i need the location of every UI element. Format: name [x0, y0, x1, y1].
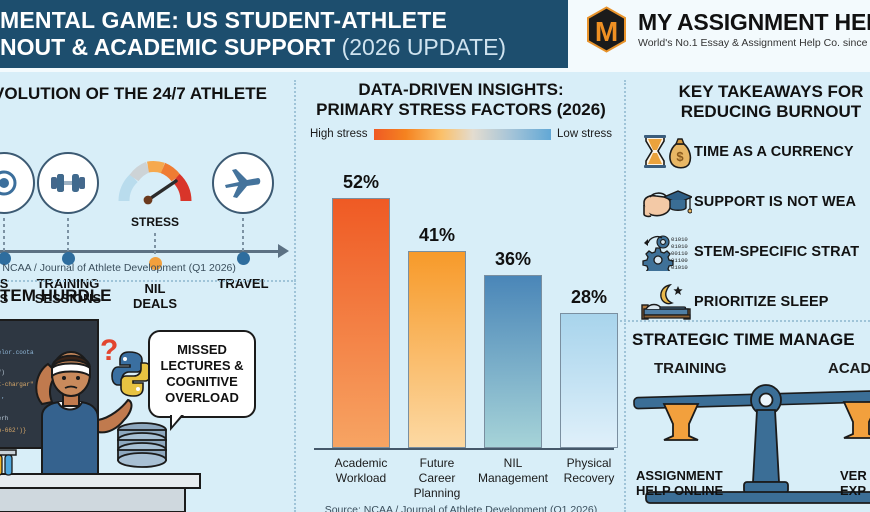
- svg-text:gethpe"): gethpe"): [0, 369, 5, 376]
- bar-value-label: 36%: [484, 249, 542, 270]
- chart-title: DATA-DRIVEN INSIGHTS: PRIMARY STRESS FAC…: [296, 80, 626, 120]
- chart-title-line2: PRIMARY STRESS FACTORS (2026): [296, 100, 626, 120]
- svg-text:01010: 01010: [671, 236, 688, 243]
- question-mark-icon: ?: [100, 334, 118, 367]
- bar-value-label: 52%: [332, 172, 390, 193]
- svg-text:ucfock',: ucfock',: [0, 393, 5, 400]
- logo-tagline: World's No.1 Essay & Assignment Help Co.…: [638, 36, 870, 50]
- chart-plot-area: 52% 41% 36% 28%: [314, 158, 614, 450]
- takeaway-label: TIME AS A CURRENCY: [694, 144, 854, 160]
- bar[interactable]: [560, 313, 618, 448]
- chart-legend: High stress Low stress: [310, 128, 612, 140]
- timeline-stem: [154, 233, 156, 257]
- takeaway-label: STEM-SPECIFIC STRAT: [694, 244, 859, 260]
- timeline-stem: [242, 218, 244, 252]
- timeline: S S: [0, 112, 296, 262]
- header: MENTAL GAME: US STUDENT-ATHLETE NOUT & A…: [0, 0, 870, 72]
- divider-takeaways-strategic: [620, 320, 870, 322]
- bar-column[interactable]: 52%: [332, 198, 390, 448]
- svg-text:= 'toserh: = 'toserh: [0, 415, 9, 422]
- takeaway-item-support[interactable]: SUPPORT IS NOT WEA: [638, 180, 870, 224]
- strategic-title: STRATEGIC TIME MANAGE: [616, 330, 870, 350]
- legend-gradient-bar: [374, 129, 552, 140]
- header-title-main: NOUT & ACADEMIC SUPPORT: [0, 34, 342, 60]
- hexagon-m-icon: M: [583, 6, 630, 53]
- bar[interactable]: [408, 251, 466, 448]
- svg-text:"fatant-chargar": "fatant-chargar": [0, 381, 34, 388]
- svg-text:$: $: [676, 149, 684, 164]
- bar-column[interactable]: 41%: [408, 251, 466, 448]
- scale-left-side-label: TRAINING: [654, 360, 727, 377]
- bar-column[interactable]: 36%: [484, 275, 542, 448]
- svg-text:01100: 01100: [671, 257, 688, 264]
- timeline-dot: [237, 252, 250, 265]
- hourglass-money-icon: $: [638, 132, 694, 172]
- header-title-band: MENTAL GAME: US STUDENT-ATHLETE NOUT & A…: [0, 0, 568, 68]
- legend-high-label: High stress: [310, 128, 368, 140]
- stem-title: TEM HURDLE: [0, 286, 254, 306]
- svg-text:01010: 01010: [671, 264, 688, 271]
- balance-scale-diagram: TRAINING ACAD ASSIGNMENT HELP: [626, 360, 870, 510]
- takeaway-item-stem[interactable]: 01010 01010 00110 01100 01010 STEM-SPECI…: [638, 230, 870, 274]
- svg-text:00110: 00110: [671, 250, 688, 257]
- bar-value-label: 41%: [408, 225, 466, 246]
- takeaway-label: PRIORITIZE SLEEP: [694, 294, 829, 310]
- takeaway-label: SUPPORT IS NOT WEA: [694, 194, 856, 210]
- panel-evolution: VOLUTION OF THE 24/7 ATHLETE S S: [0, 72, 296, 512]
- svg-text:01010: 01010: [671, 243, 688, 250]
- takeaways-title-line2: REDUCING BURNOUT: [626, 102, 870, 122]
- dumbbell-icon: [37, 152, 99, 214]
- x-label-nil-management: NIL Management: [470, 456, 556, 486]
- stem-illustration: son as:larelor.coota gethpe") "fatant-ch…: [0, 312, 300, 512]
- bar[interactable]: [484, 275, 542, 448]
- takeaway-item-sleep[interactable]: PRIORITIZE SLEEP: [638, 280, 870, 324]
- takeaways-title-line1: KEY TAKEAWAYS FOR: [626, 82, 870, 102]
- svg-text:M: M: [595, 16, 618, 47]
- header-title-line2: NOUT & ACADEMIC SUPPORT (2026 UPDATE): [0, 34, 568, 61]
- bar-value-label: 28%: [560, 287, 618, 308]
- bar[interactable]: [332, 198, 390, 448]
- svg-text:pe-terp-662')}: pe-terp-662')}: [0, 427, 26, 434]
- svg-text:as:larelor.coota: as:larelor.coota: [0, 349, 34, 356]
- bed-moon-icon: [638, 282, 694, 322]
- legend-low-label: Low stress: [557, 128, 612, 140]
- gears-binary-icon: 01010 01010 00110 01100 01010: [638, 232, 694, 272]
- database-stack-icon: [118, 423, 166, 467]
- chart-title-line1: DATA-DRIVEN INSIGHTS:: [296, 80, 626, 100]
- header-title-year: (2026 UPDATE): [342, 34, 506, 60]
- bar-column[interactable]: 28%: [560, 313, 618, 448]
- takeaways-title: KEY TAKEAWAYS FOR REDUCING BURNOUT: [626, 82, 870, 122]
- timeline-title: VOLUTION OF THE 24/7 ATHLETE: [0, 84, 300, 104]
- header-title-line1: MENTAL GAME: US STUDENT-ATHLETE: [0, 7, 568, 34]
- takeaways-list: $ TIME AS A CURRENCY: [638, 130, 870, 330]
- scale-right-side-label: ACAD: [828, 360, 870, 377]
- brand-logo[interactable]: M MY ASSIGNMENT HELP World's No.1 Essay …: [583, 6, 870, 53]
- infographic-canvas: MENTAL GAME: US STUDENT-ATHLETE NOUT & A…: [0, 0, 870, 512]
- timeline-source: rce: NCAA / Journal of Athlete Developme…: [0, 262, 236, 274]
- strong-arm-graduation-cap-icon: [638, 182, 694, 222]
- chart-baseline: [314, 448, 614, 451]
- x-label-physical-recovery: Physical Recovery: [546, 456, 632, 486]
- panel-takeaways: KEY TAKEAWAYS FOR REDUCING BURNOUT $: [626, 72, 870, 512]
- scale-right-caption: VER EXP: [840, 468, 867, 498]
- panel-chart: DATA-DRIVEN INSIGHTS: PRIMARY STRESS FAC…: [296, 72, 626, 512]
- chart-source: Source: NCAA / Journal of Athlete Develo…: [296, 504, 626, 512]
- scale-left-caption: ASSIGNMENT HELP ONLINE: [636, 468, 723, 498]
- timeline-stem: [67, 218, 69, 252]
- logo-name: MY ASSIGNMENT HELP: [638, 9, 870, 35]
- divider-timeline-stem: [0, 280, 296, 282]
- timeline-stem: [3, 218, 5, 252]
- takeaway-item-time[interactable]: $ TIME AS A CURRENCY: [638, 130, 870, 174]
- airplane-icon: [212, 152, 274, 214]
- chart-x-labels: Academic Workload Future Career Planning…: [314, 456, 614, 502]
- x-label-future-career-planning: Future Career Planning: [394, 456, 480, 501]
- speech-bubble: MISSED LECTURES & COGNITIVE OVERLOAD: [148, 330, 256, 418]
- x-label-academic-workload: Academic Workload: [318, 456, 404, 486]
